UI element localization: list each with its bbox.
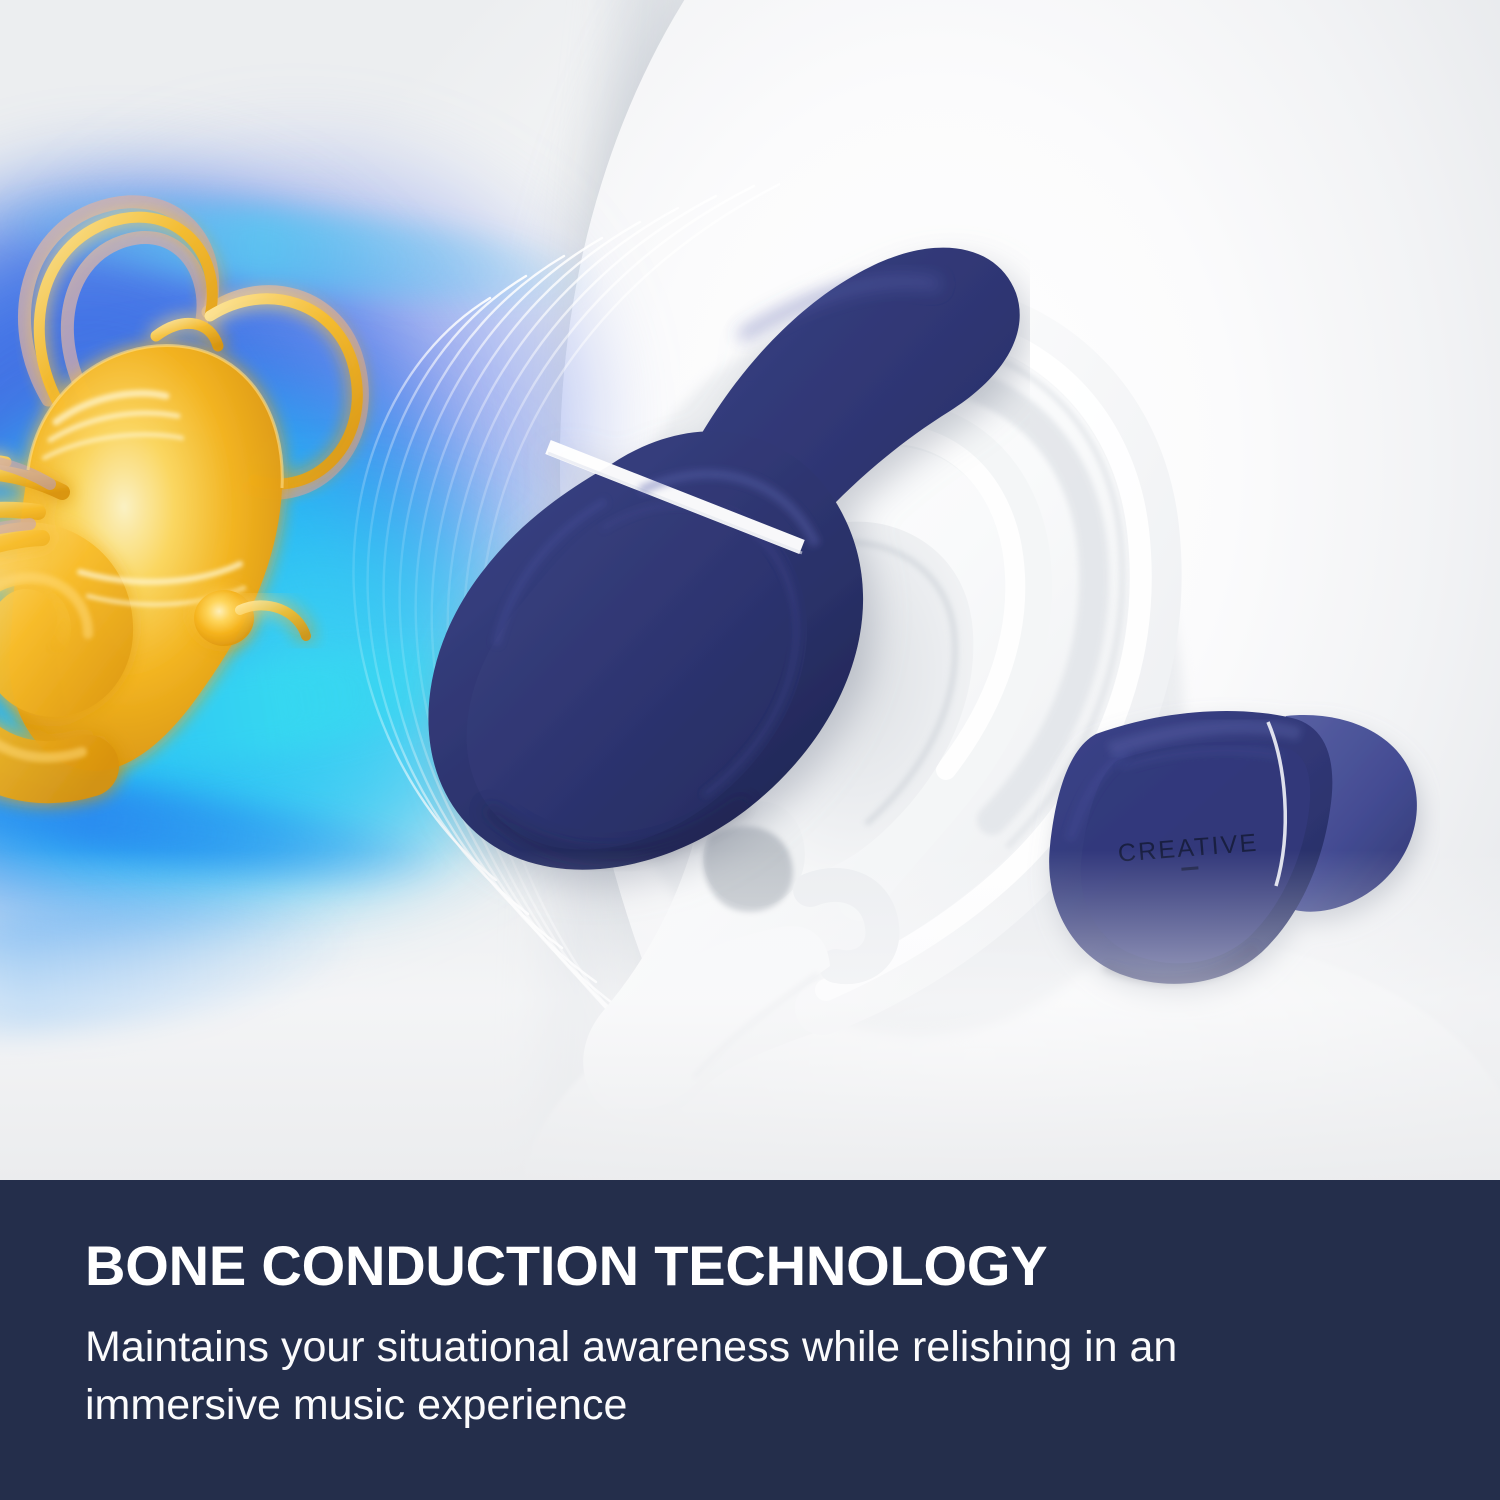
photo-bottom-fade: [0, 850, 1500, 1180]
caption-banner-content: BONE CONDUCTION TECHNOLOGY Maintains you…: [85, 1236, 1395, 1434]
product-photo: CREATIVE: [0, 0, 1500, 1180]
product-feature-image: CREATIVE BONE CONDUCTION TECHNOLOGY Main…: [0, 0, 1500, 1500]
feature-headline: BONE CONDUCTION TECHNOLOGY: [85, 1236, 1395, 1296]
feature-subheadline: Maintains your situational awareness whi…: [85, 1318, 1335, 1434]
bone-conduction-transducer: [310, 215, 1030, 935]
caption-banner: BONE CONDUCTION TECHNOLOGY Maintains you…: [0, 1180, 1500, 1500]
